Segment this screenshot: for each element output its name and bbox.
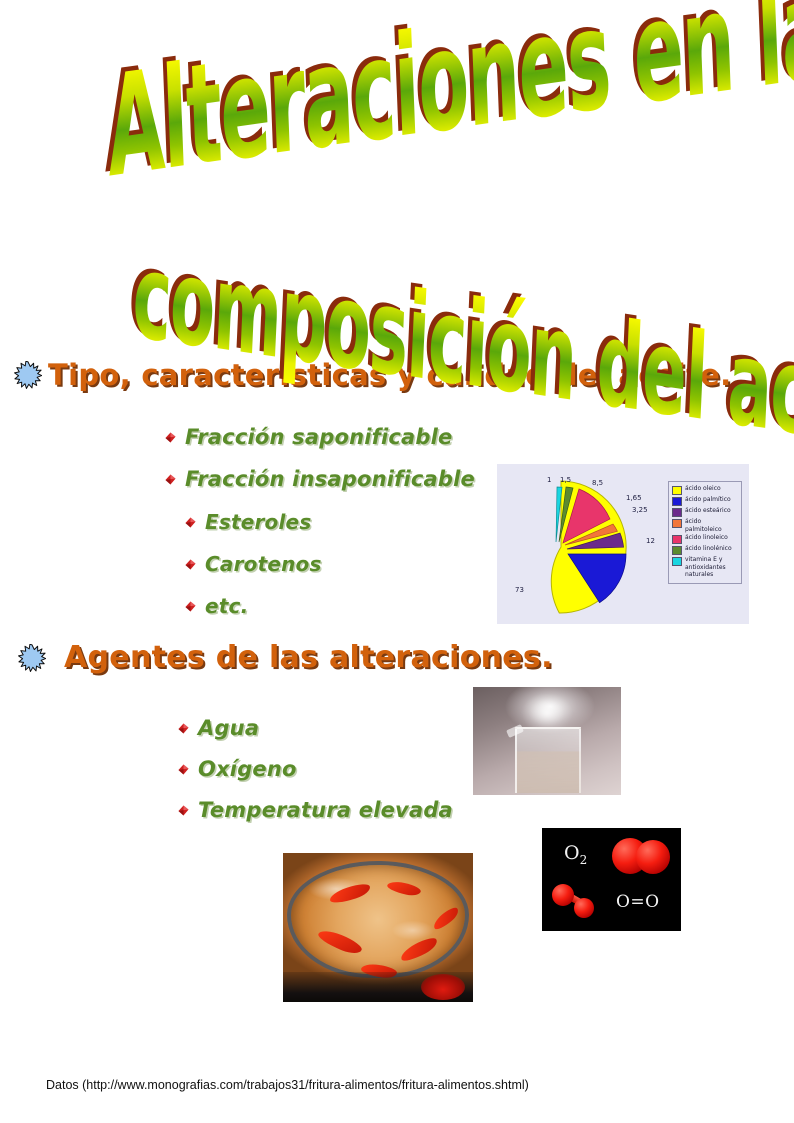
pot-rim	[287, 861, 469, 978]
legend-label: ácido oleico	[685, 485, 721, 493]
steam-vapor	[521, 689, 573, 729]
pie-chart-legend: ácido oleico ácido palmítico ácido esteá…	[668, 481, 742, 584]
list-item: Carotenos	[185, 552, 322, 576]
legend-swatch-acido-linoleico	[672, 535, 682, 544]
legend-label: ácido linoleico	[685, 534, 728, 542]
legend-item: ácido linolénico	[672, 545, 739, 555]
legend-swatch-vitamina-e	[672, 557, 682, 566]
diamond-bullet-icon	[178, 723, 189, 734]
oxygen-bond-label: O=O	[616, 892, 660, 912]
oxygen-formula-subscript: 2	[580, 853, 588, 867]
legend-label: ácido palmitoleico	[685, 518, 739, 533]
stove-burner-glow	[421, 974, 465, 1000]
oxygen-formula-label: O2	[564, 842, 587, 867]
legend-item: ácido linoleico	[672, 534, 739, 544]
list-item-label: Fracción saponificable	[185, 425, 452, 449]
food-piece	[398, 934, 439, 964]
legend-label: ácido esteárico	[685, 507, 731, 515]
section-heading-label: Agentes de las alteraciones.	[64, 640, 553, 675]
list-item: etc.	[185, 594, 248, 618]
diamond-bullet-icon	[165, 474, 176, 485]
legend-swatch-acido-palmitoleico	[672, 519, 682, 528]
legend-label: vitamina E y antioxidantes naturales	[685, 556, 739, 579]
diamond-bullet-icon	[178, 805, 189, 816]
list-item-label: etc.	[205, 594, 248, 618]
wordart-title: Alteraciones en la Alteraciones en la co…	[0, 18, 794, 338]
diamond-bullet-icon	[185, 517, 196, 528]
diamond-bullet-icon	[165, 432, 176, 443]
diamond-bullet-icon	[178, 764, 189, 775]
oxygen-atom-sphere	[552, 884, 574, 906]
pie-label-acido-oleico: 73	[515, 586, 524, 594]
slide-canvas: Alteraciones en la Alteraciones en la co…	[0, 0, 794, 1123]
food-piece	[431, 905, 461, 933]
star-burst-icon	[18, 644, 46, 672]
pie-label-acido-palmitoleico: 1,65	[626, 494, 642, 502]
list-item: Temperatura elevada	[178, 798, 453, 822]
legend-swatch-acido-linolenico	[672, 546, 682, 555]
list-item: Agua	[178, 716, 259, 740]
legend-item: vitamina E y antioxidantes naturales	[672, 556, 739, 579]
legend-item: ácido palmítico	[672, 496, 739, 506]
list-item: Oxígeno	[178, 757, 297, 781]
pie-label-acido-linolenico: 1,5	[560, 476, 571, 484]
food-piece	[316, 927, 364, 957]
pie-label-acido-palmitico: 12	[646, 537, 655, 545]
list-item-label: Oxígeno	[198, 757, 297, 781]
food-piece	[386, 880, 422, 898]
list-item-label: Temperatura elevada	[198, 798, 453, 822]
pie-chart-plot-area: 73 12 3,25 1,65 8,5 1,5 1 ácido oleico á…	[498, 465, 748, 623]
list-item: Esteroles	[185, 510, 311, 534]
legend-label: ácido palmítico	[685, 496, 731, 504]
list-item: Fracción saponificable	[165, 425, 452, 449]
legend-swatch-acido-palmitico	[672, 497, 682, 506]
list-item-label: Esteroles	[205, 510, 311, 534]
list-item: Fracción insaponificable	[165, 467, 475, 491]
pie-chart-oil-composition: 73 12 3,25 1,65 8,5 1,5 1 ácido oleico á…	[497, 464, 749, 624]
food-piece	[328, 881, 372, 906]
legend-swatch-acido-estearico	[672, 508, 682, 517]
frying-pot-photo	[283, 853, 473, 1002]
pie-label-acido-estearico: 3,25	[632, 506, 648, 514]
pie-chart-svg	[500, 469, 668, 621]
list-item-label: Agua	[198, 716, 259, 740]
list-item-label: Carotenos	[205, 552, 322, 576]
legend-item: ácido esteárico	[672, 507, 739, 517]
pie-label-vitamina-e: 1	[547, 476, 551, 484]
list-item-label: Fracción insaponificable	[185, 467, 475, 491]
section-heading-agentes: Agentes de las alteraciones.	[18, 640, 553, 675]
diamond-bullet-icon	[185, 559, 196, 570]
oxygen-formula-letter: O	[564, 842, 580, 864]
source-footer-note: Datos (http://www.monografias.com/trabaj…	[46, 1078, 529, 1092]
legend-swatch-acido-oleico	[672, 486, 682, 495]
legend-item: ácido oleico	[672, 485, 739, 495]
oxygen-atom-sphere	[636, 840, 670, 874]
legend-item: ácido palmitoleico	[672, 518, 739, 533]
star-burst-icon	[14, 361, 42, 389]
legend-label: ácido linolénico	[685, 545, 732, 553]
beaker-glass	[515, 727, 581, 793]
diamond-bullet-icon	[185, 601, 196, 612]
pie-label-acido-linoleico: 8,5	[592, 479, 603, 487]
oxygen-atom-sphere	[574, 898, 594, 918]
oxygen-molecule-photo: O2 O=O	[542, 828, 681, 931]
beaker-steam-photo	[473, 687, 621, 795]
